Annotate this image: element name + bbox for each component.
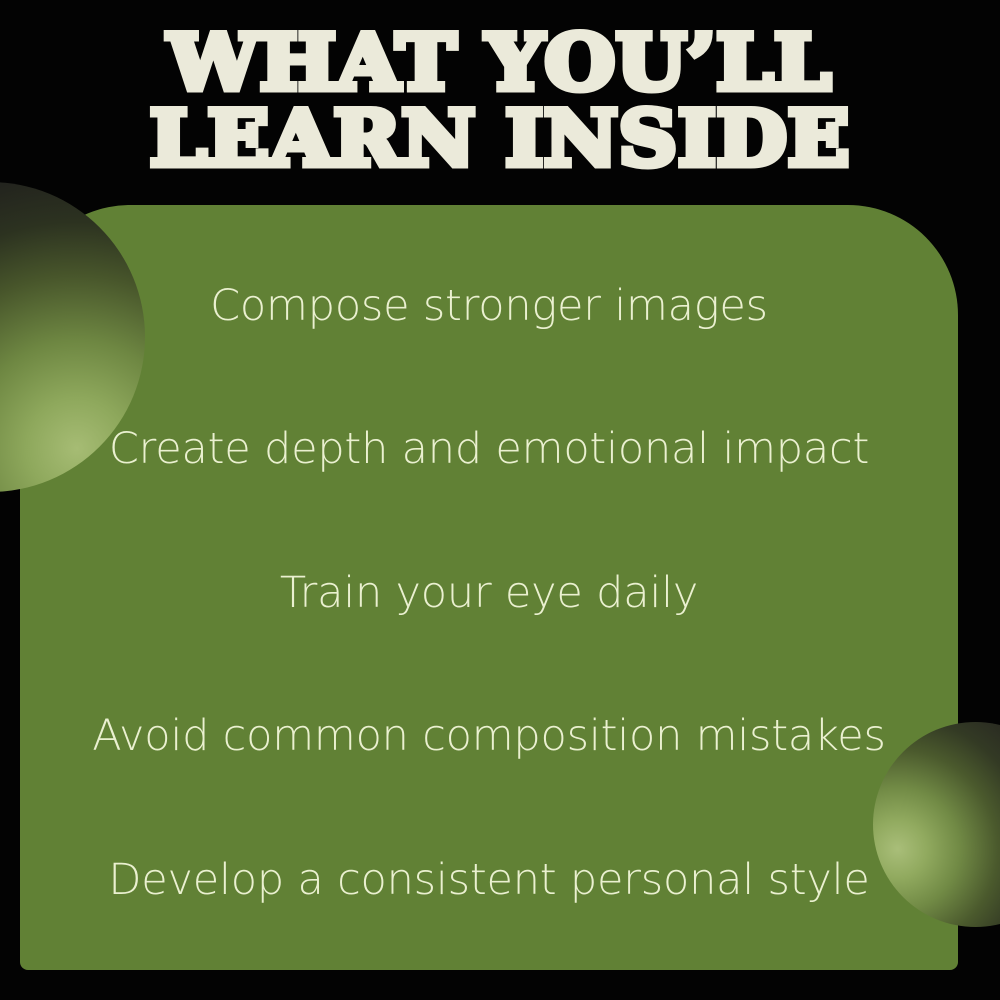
list-item-label: Create depth and emotional impact	[109, 426, 869, 473]
title-line-1: WHAT YOU’LL	[0, 28, 1000, 98]
page-title: WHAT YOU’LL LEARN INSIDE	[0, 28, 1000, 174]
list-item: Train your eye daily	[20, 522, 958, 665]
poster-canvas: WHAT YOU’LL LEARN INSIDE Compose stronge…	[0, 0, 1000, 1000]
list-item: Develop a consistent personal style	[20, 809, 958, 952]
list-item-label: Train your eye daily	[280, 570, 698, 617]
list-item-label: Compose stronger images	[210, 283, 768, 330]
list-item: Compose stronger images	[20, 235, 958, 378]
list-item: Create depth and emotional impact	[20, 378, 958, 521]
title-line-2: LEARN INSIDE	[0, 104, 1000, 174]
list-item: Avoid common composition mistakes	[20, 665, 958, 808]
benefits-list: Compose stronger images Create depth and…	[20, 205, 958, 970]
list-item-label: Develop a consistent personal style	[108, 857, 869, 904]
list-item-label: Avoid common composition mistakes	[92, 713, 885, 760]
